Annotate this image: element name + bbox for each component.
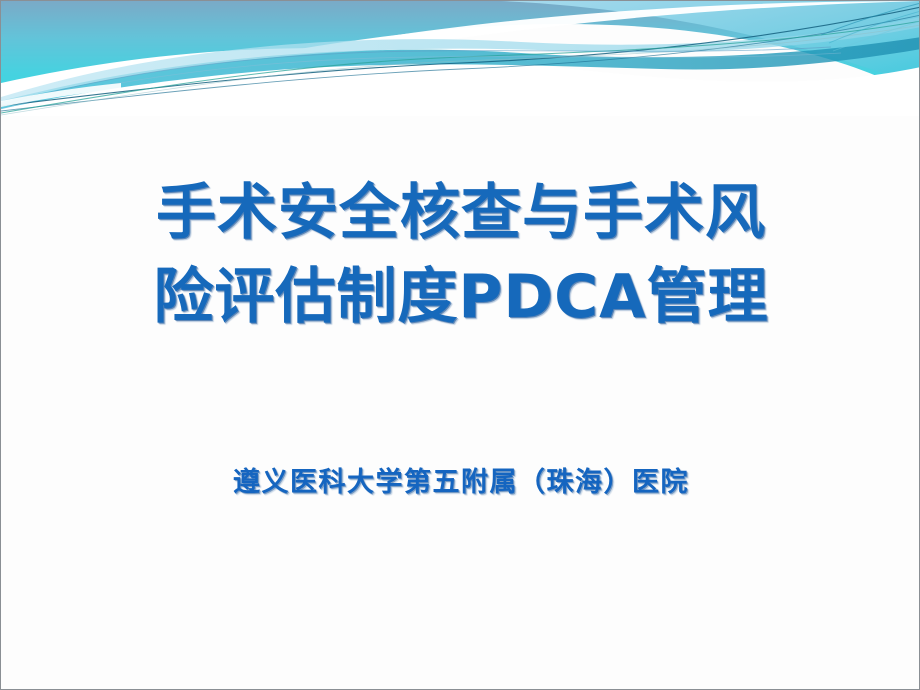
title-line-1: 手术安全核查与手术风 [1, 171, 920, 255]
wave-banner-decoration [1, 1, 920, 116]
organization-name: 遵义医科大学第五附属（珠海）医院 [1, 463, 920, 503]
title-line-2: 险评估制度PDCA管理 [1, 255, 920, 339]
slide-content-area [1, 541, 920, 689]
slide-title: 手术安全核查与手术风 险评估制度PDCA管理 [1, 171, 920, 339]
presentation-slide: 手术安全核查与手术风 险评估制度PDCA管理 遵义医科大学第五附属（珠海）医院 [0, 0, 920, 690]
wave-banner-graphic [1, 1, 920, 116]
slide-subtitle: 遵义医科大学第五附属（珠海）医院 [1, 463, 920, 503]
